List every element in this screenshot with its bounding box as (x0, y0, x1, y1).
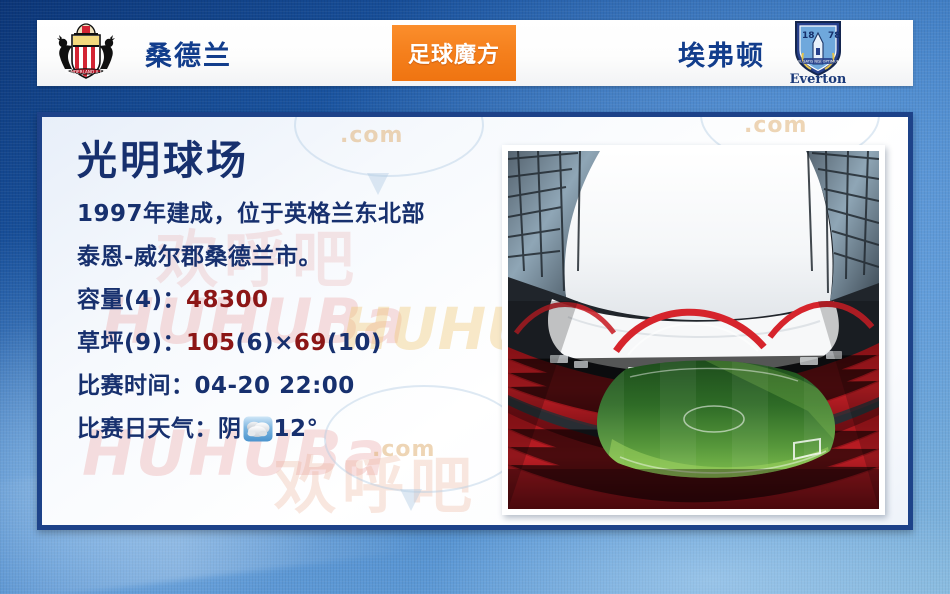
page-title: 光明球场 (77, 139, 497, 183)
weather-row: 比赛日天气：阴 (77, 408, 497, 451)
sunderland-crest-icon: SUNDERLAND A.F.C. (55, 21, 117, 85)
svg-text:78: 78 (828, 31, 841, 41)
capacity-value: 48300 (186, 287, 269, 313)
away-team-name: 埃弗顿 (678, 34, 765, 73)
match-header-bar: SUNDERLAND A.F.C. 桑德兰 足球魔方 埃弗顿 (37, 20, 913, 86)
pitch-width: 69 (294, 330, 327, 356)
capacity-label: 容量(4)： (77, 287, 186, 313)
home-team-name: 桑德兰 (145, 34, 232, 73)
pitch-length-rank: (6) (236, 330, 275, 356)
capacity-row: 容量(4)：48300 (77, 279, 497, 322)
stadium-photo-frame[interactable] (502, 145, 885, 515)
pitch-width-rank: (10) (327, 330, 382, 356)
match-stadium-card: SUNDERLAND A.F.C. 桑德兰 足球魔方 埃弗顿 (0, 0, 950, 594)
svg-text:18: 18 (802, 31, 815, 41)
weather-temperature: 12° (274, 416, 319, 442)
watermark-com-topright: .com (744, 113, 807, 138)
pitch-label: 草坪(9)： (77, 330, 186, 356)
match-time-row: 比赛时间：04-20 22:00 (77, 365, 497, 408)
away-team-block[interactable]: 埃弗顿 18 78 N (516, 20, 871, 86)
site-logo-text: 足球魔方 (408, 37, 500, 69)
site-logo[interactable]: 足球魔方 (392, 25, 516, 81)
pitch-length: 105 (186, 330, 236, 356)
match-time-label: 比赛时间： (77, 373, 195, 399)
everton-crest-icon: 18 78 NIL SATIS NISI OPTIMUM Everton (781, 17, 855, 89)
stadium-description-line-1: 1997年建成，位于英格兰东北部 (77, 193, 497, 236)
home-team-block[interactable]: SUNDERLAND A.F.C. 桑德兰 (37, 20, 392, 86)
overcast-cloud-icon (243, 414, 273, 440)
stadium-info-column: 光明球场 1997年建成，位于英格兰东北部 泰恩-威尔郡桑德兰市。 容量(4)：… (77, 139, 497, 451)
match-time-value: 04-20 22:00 (195, 373, 355, 399)
pitch-separator: × (274, 330, 294, 356)
stadium-info-panel: .com .com HUHUBa HUHUBa HUHUBa 欢呼吧 欢呼吧 .… (37, 112, 913, 530)
pitch-row: 草坪(9)：105(6)×69(10) (77, 322, 497, 365)
stadium-photo (508, 151, 879, 509)
weather-condition: 阴 (218, 416, 242, 442)
svg-text:Everton: Everton (790, 72, 847, 85)
svg-text:SUNDERLAND A.F.C.: SUNDERLAND A.F.C. (65, 69, 107, 74)
svg-text:NIL SATIS NISI OPTIMUM: NIL SATIS NISI OPTIMUM (796, 60, 839, 64)
stadium-description-line-2: 泰恩-威尔郡桑德兰市。 (77, 236, 497, 279)
weather-label: 比赛日天气： (77, 416, 218, 442)
